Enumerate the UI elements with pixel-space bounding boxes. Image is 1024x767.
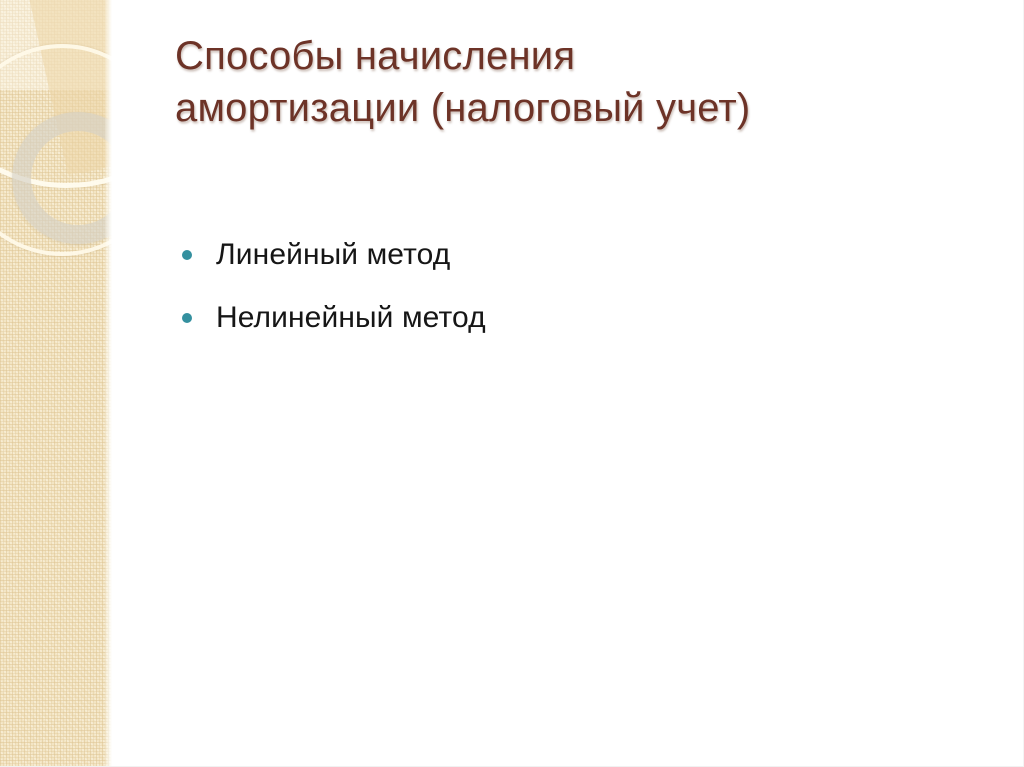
list-item: Нелинейный метод (176, 295, 976, 340)
sidebar-thin-cream-arc-icon (0, 44, 112, 256)
bullet-dot-icon (182, 250, 192, 260)
sidebar-pale-edge-band (105, 0, 112, 767)
bullet-list: Линейный метод Нелинейный метод (176, 232, 976, 358)
presentation-slide: Способы начисления амортизации (налоговы… (0, 0, 1024, 767)
slide-title: Способы начисления амортизации (налоговы… (175, 30, 975, 134)
bullet-dot-icon (182, 313, 192, 323)
list-item-label: Нелинейный метод (216, 301, 486, 334)
list-item: Линейный метод (176, 232, 976, 277)
decorative-sidebar (0, 0, 112, 767)
list-item-label: Линейный метод (216, 238, 450, 271)
